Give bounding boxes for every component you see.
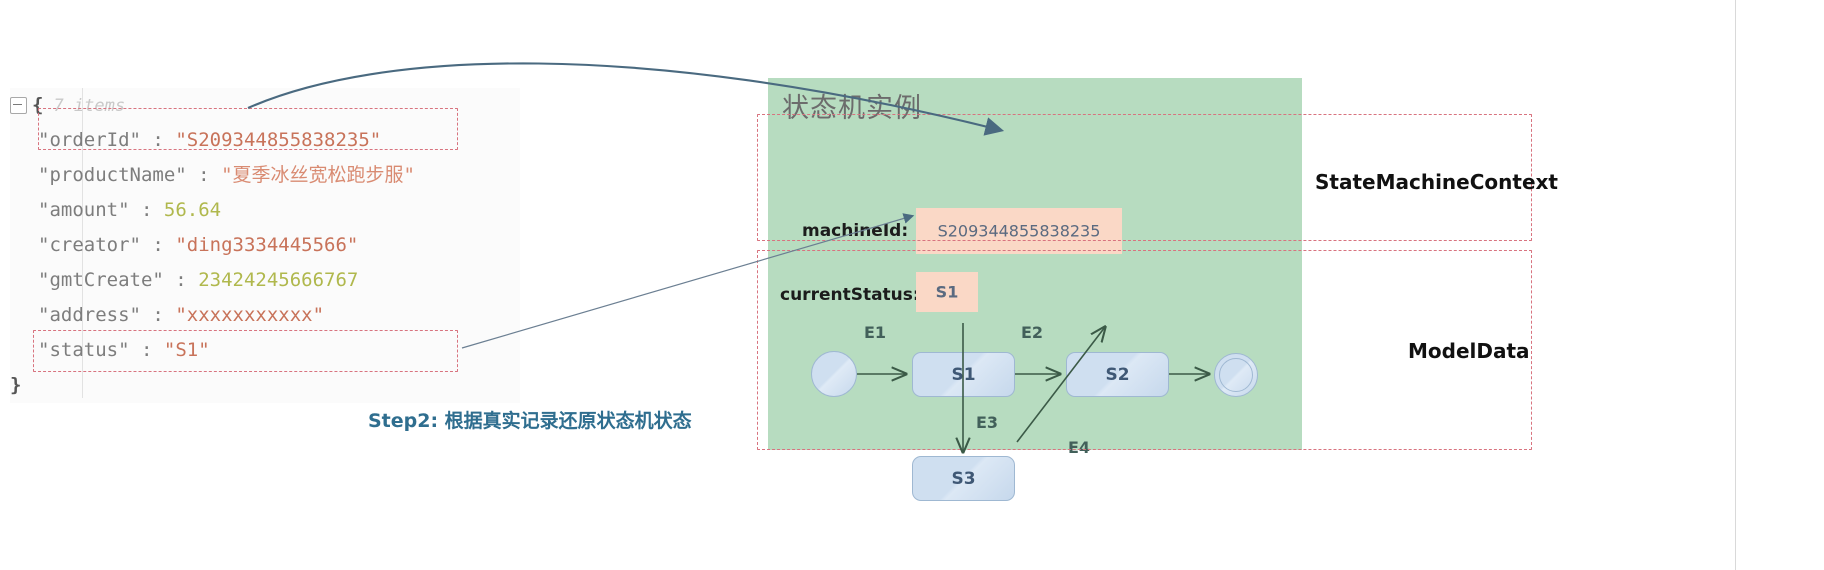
diagram-canvas: {7 items "orderId" : "S209344855838235" … [0,0,1824,570]
json-colon: : [152,304,163,326]
json-value: "ding3334445566" [175,234,358,256]
json-colon: : [152,234,163,256]
json-key: "creator" [38,234,141,256]
json-value: "xxxxxxxxxxx" [175,304,324,326]
json-row-address: "address" : "xxxxxxxxxxx" [10,298,520,333]
json-colon: : [198,164,209,186]
json-close-brace: } [10,374,21,396]
json-key: "address" [38,304,141,326]
json-colon: : [141,199,152,221]
page-guide-line [1735,0,1736,570]
collapse-toggle-icon[interactable] [10,97,27,114]
highlight-orderId-row [38,108,458,150]
json-colon: : [175,269,186,291]
step-caption: Step2: 根据真实记录还原状态机状态 [368,406,692,433]
json-value: 23424245666767 [198,269,358,291]
json-row-creator: "creator" : "ding3334445566" [10,228,520,263]
json-key: "gmtCreate" [38,269,164,291]
json-value: "夏季冰丝宽松跑步服" [221,164,415,186]
json-key: "amount" [38,199,130,221]
json-row-productName: "productName" : "夏季冰丝宽松跑步服" [10,158,520,193]
json-value: 56.64 [164,199,221,221]
highlight-status-row [33,330,458,372]
label-modeldata: ModelData [1408,339,1530,363]
json-key: "productName" [38,164,187,186]
json-row-amount: "amount" : 56.64 [10,193,520,228]
state-node-label: S3 [913,469,1014,489]
state-node-s3: S3 [912,456,1015,501]
label-statemachinecontext: StateMachineContext [1315,170,1558,194]
json-root-close: } [10,368,520,403]
json-row-gmtCreate: "gmtCreate" : 23424245666767 [10,263,520,298]
